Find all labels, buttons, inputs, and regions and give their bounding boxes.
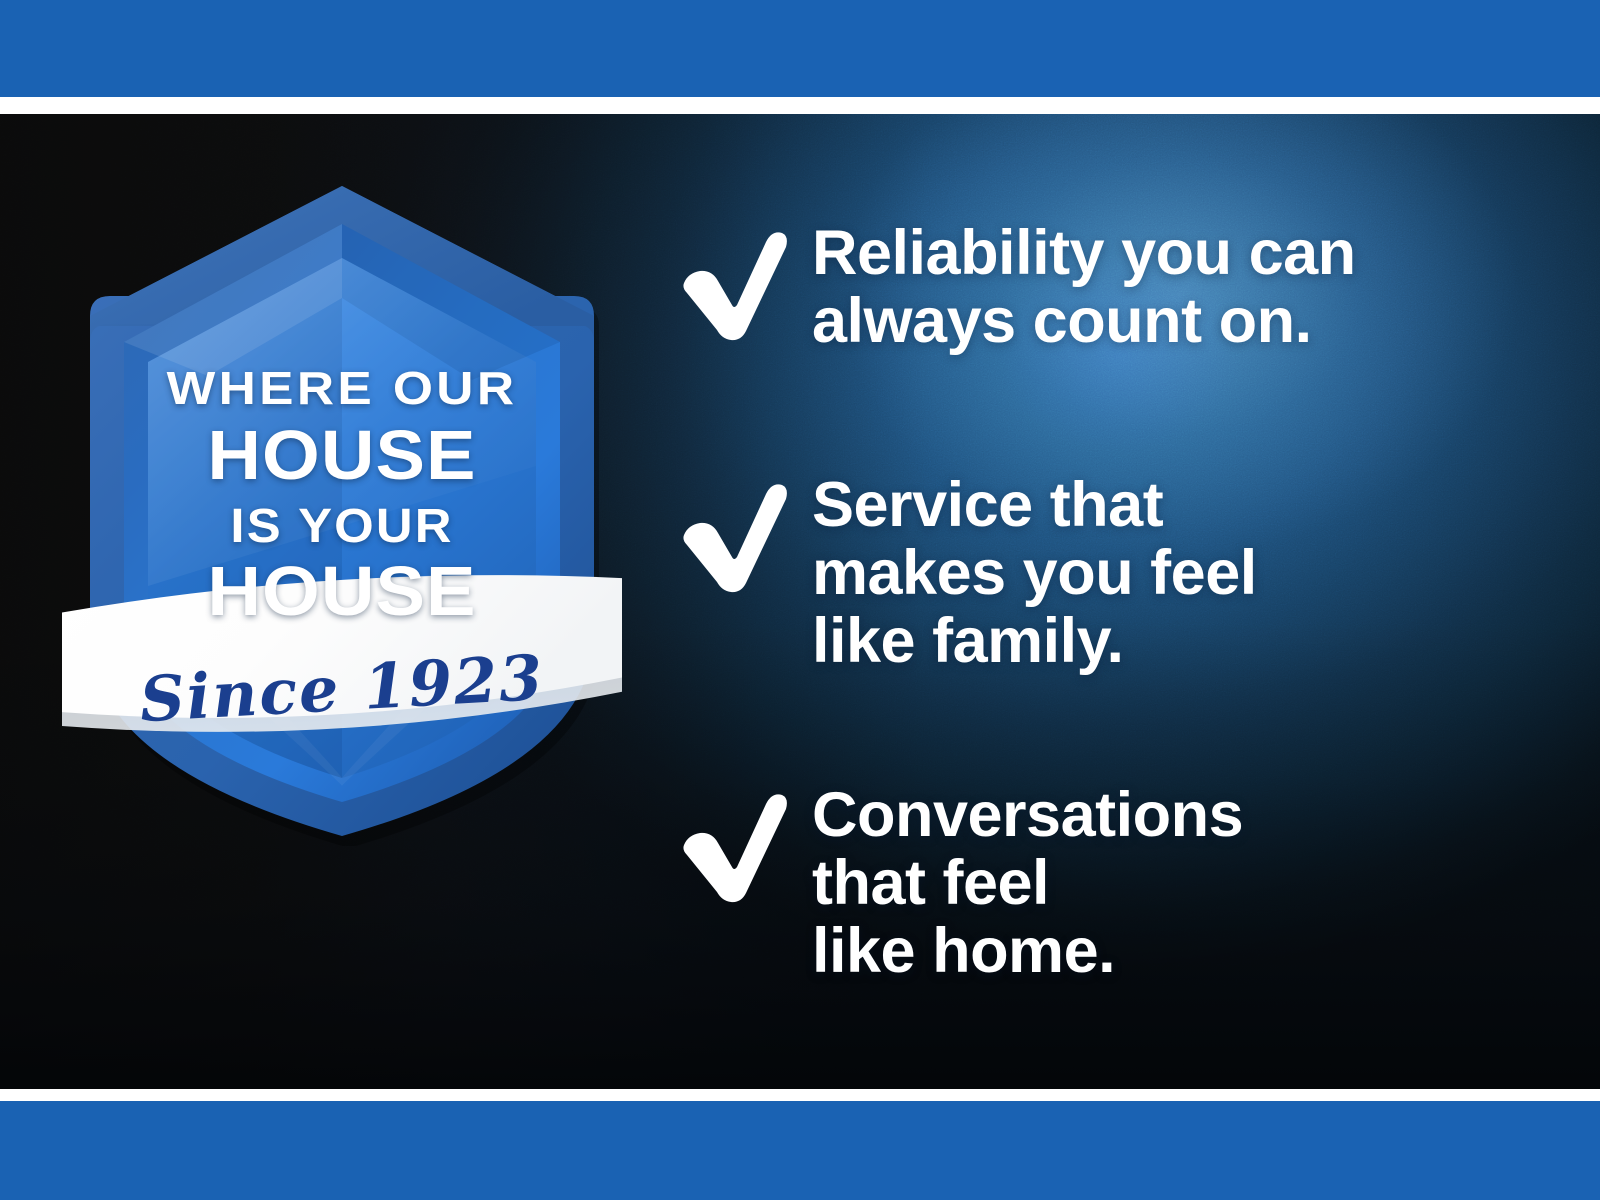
benefit-line: makes you feel [812,539,1257,607]
bottom-white-divider [0,1089,1600,1101]
promo-graphic: WHERE OUR HOUSE IS YOUR HOUSE Since 1923… [0,0,1600,1200]
benefit-text: Conversations that feel like home. [812,779,1243,985]
benefit-line: that feel [812,849,1243,917]
checkmark-icon [662,783,812,903]
benefit-line: Conversations [812,781,1243,849]
benefit-line: like family. [812,607,1257,675]
shield-emblem [62,166,622,846]
benefit-line: always count on. [812,287,1356,355]
benefits-list: Reliability you can always count on. Ser… [662,114,1562,1089]
top-brand-bar [0,0,1600,97]
benefit-text: Service that makes you feel like family. [812,469,1257,675]
bottom-brand-bar [0,1101,1600,1200]
benefit-line: Reliability you can [812,219,1356,287]
benefit-text: Reliability you can always count on. [812,217,1356,355]
benefit-item: Service that makes you feel like family. [662,469,1257,675]
benefit-item: Reliability you can always count on. [662,217,1356,355]
checkmark-icon [662,221,812,341]
benefit-line: like home. [812,917,1243,985]
top-white-divider [0,97,1600,114]
benefit-line: Service that [812,471,1257,539]
benefit-item: Conversations that feel like home. [662,779,1243,985]
checkmark-icon [662,473,812,593]
shield-badge: WHERE OUR HOUSE IS YOUR HOUSE Since 1923 [62,166,622,846]
